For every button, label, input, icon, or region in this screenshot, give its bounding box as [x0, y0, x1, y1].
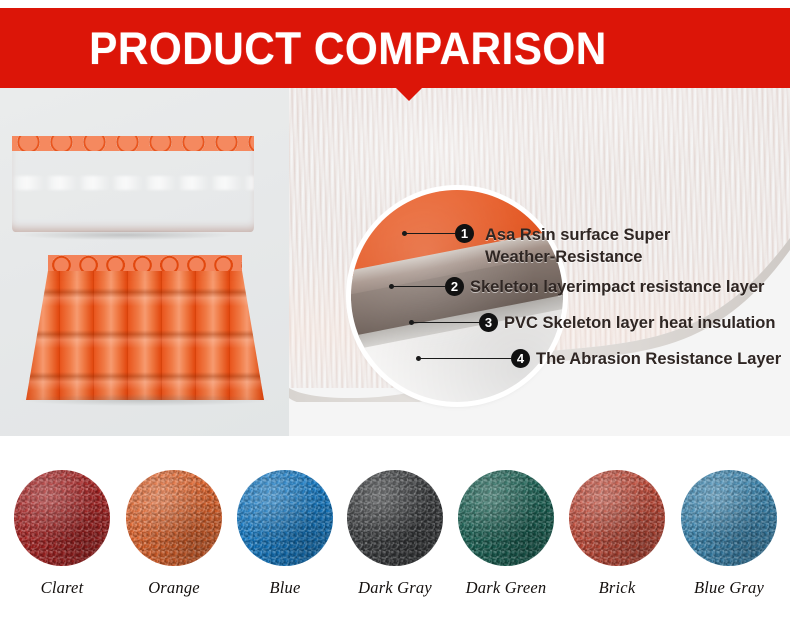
swatch-label: Blue: [236, 578, 334, 598]
tile-scallop-edge: [48, 255, 242, 271]
swatch-disc: [681, 470, 777, 566]
layer-structure-panel: 1 Asa Rsin surface Super Weather-Resista…: [289, 88, 790, 436]
swatch-dark-gray[interactable]: Dark Gray: [346, 470, 444, 598]
callout-badge-3: 3: [479, 313, 498, 332]
swatch-label: Dark Gray: [346, 578, 444, 598]
swatch-label: Dark Green: [457, 578, 555, 598]
tile-highlight-band: [12, 176, 254, 190]
leader-line: [405, 233, 455, 234]
swatch-claret[interactable]: Claret: [13, 470, 111, 598]
tile-scallop-edge: [12, 136, 254, 151]
swatch-shading: [237, 470, 333, 566]
roof-tile-sheet-perspective-view: [26, 260, 264, 400]
swatch-orange[interactable]: Orange: [125, 470, 223, 598]
swatch-blue[interactable]: Blue: [236, 470, 334, 598]
leader-line: [419, 358, 511, 359]
swatch-disc: [569, 470, 665, 566]
swatch-shading: [14, 470, 110, 566]
color-swatch-strip: Claret Orange Blue Dark Gray: [0, 436, 790, 641]
page-title: PRODUCT COMPARISON: [24, 8, 767, 88]
callout-badge-2: 2: [445, 277, 464, 296]
callout-badge-1: 1: [455, 224, 474, 243]
swatch-shading: [569, 470, 665, 566]
swatch-shading: [681, 470, 777, 566]
swatch-shading: [347, 470, 443, 566]
leader-line: [392, 286, 445, 287]
banner-notch-triangle: [396, 88, 422, 101]
swatch-label: Brick: [568, 578, 666, 598]
swatch-disc: [347, 470, 443, 566]
roof-tile-sheet-front-view: [12, 136, 254, 232]
comparison-section: 1 Asa Rsin surface Super Weather-Resista…: [0, 88, 790, 436]
swatch-disc: [14, 470, 110, 566]
leader-line: [412, 322, 479, 323]
swatch-brick[interactable]: Brick: [568, 470, 666, 598]
swatch-blue-gray[interactable]: Blue Gray: [680, 470, 778, 598]
swatch-label: Orange: [125, 578, 223, 598]
header-banner: PRODUCT COMPARISON: [0, 8, 790, 88]
tile-row-seams: [26, 260, 264, 400]
callout-text-1: Asa Rsin surface Super Weather-Resistanc…: [485, 224, 670, 268]
swatch-shading: [458, 470, 554, 566]
tile-drop-shadow: [20, 230, 230, 240]
tile-drop-shadow: [22, 394, 268, 406]
product-comparison-infographic: PRODUCT COMPARISON: [0, 0, 790, 641]
product-photos-panel: [0, 88, 289, 436]
callout-badge-4: 4: [511, 349, 530, 368]
swatch-disc: [458, 470, 554, 566]
callout-text-4: The Abrasion Resistance Layer: [536, 348, 781, 370]
swatch-label: Blue Gray: [680, 578, 778, 598]
swatch-disc: [126, 470, 222, 566]
callout-text-3: PVC Skeleton layer heat insulation: [504, 312, 775, 334]
swatch-shading: [126, 470, 222, 566]
callout-text-2: Skeleton layerimpact resistance layer: [470, 276, 764, 298]
swatch-label: Claret: [13, 578, 111, 598]
swatch-disc: [237, 470, 333, 566]
swatch-dark-green[interactable]: Dark Green: [457, 470, 555, 598]
